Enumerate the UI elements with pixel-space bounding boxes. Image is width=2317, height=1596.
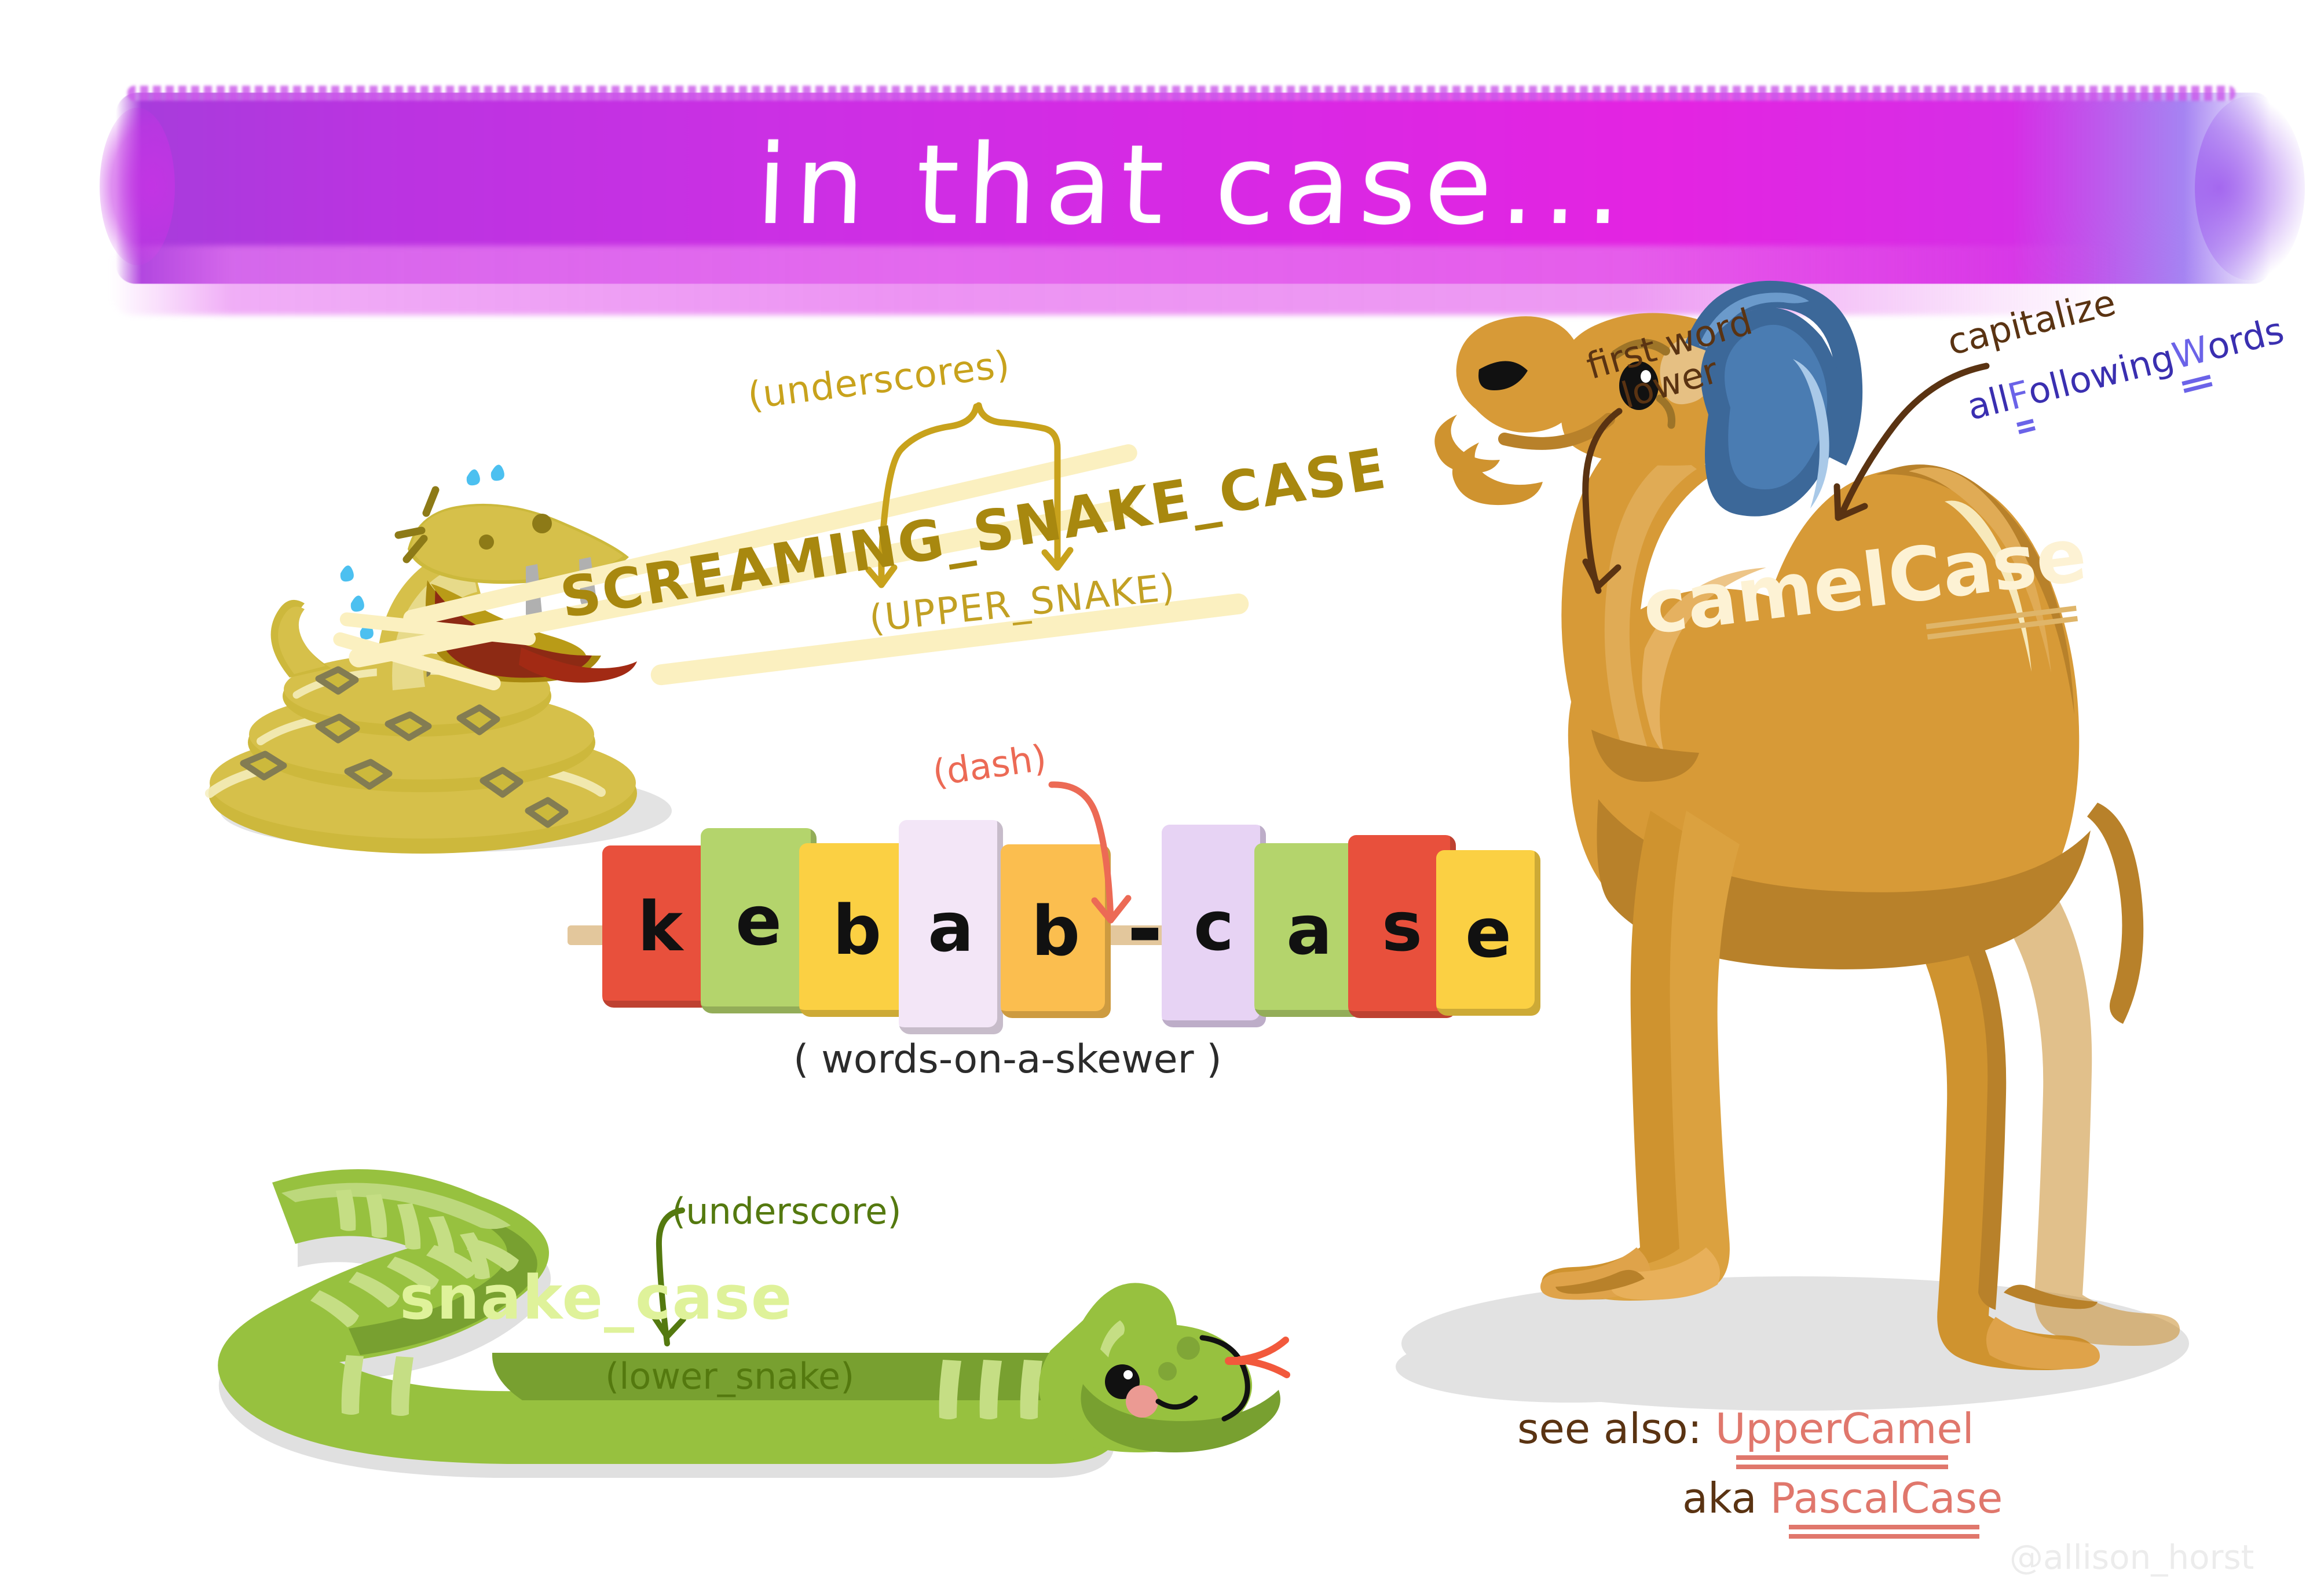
dash-annotation-arrow [1042,779,1216,947]
pascal-case-label: PascalCase [1770,1474,2003,1522]
illustration-canvas: in that case... [0,0,2317,1596]
kebab-letter: b [799,843,915,1017]
title-banner: in that case... [116,93,2270,284]
aka-lead: aka [1682,1474,1757,1522]
kebab-alias-label: ( words-on-a-skewer ) [793,1037,1222,1082]
lower-snake-alias-label: (lower_snake) [605,1355,854,1397]
dash-annotation: (dash) [930,737,1049,795]
see-also-lead: see also: [1517,1404,1702,1453]
kebab-letter: a [899,820,1003,1034]
camel-illustration [1245,301,2230,1436]
veggie-chunk: a [899,820,1003,1034]
veggie-chunk: b [799,843,915,1017]
capitalize-annotation-arrow [1789,359,1998,533]
artist-signature: @allison_horst [2009,1538,2254,1577]
page-title: in that case... [112,89,2274,280]
see-also-line: see also: UpperCamel [1517,1404,1974,1453]
upper-camel-label: UpperCamel [1715,1404,1974,1453]
snake-case-label: snake_case [400,1262,793,1333]
aka-line: aka PascalCase [1682,1474,2003,1522]
